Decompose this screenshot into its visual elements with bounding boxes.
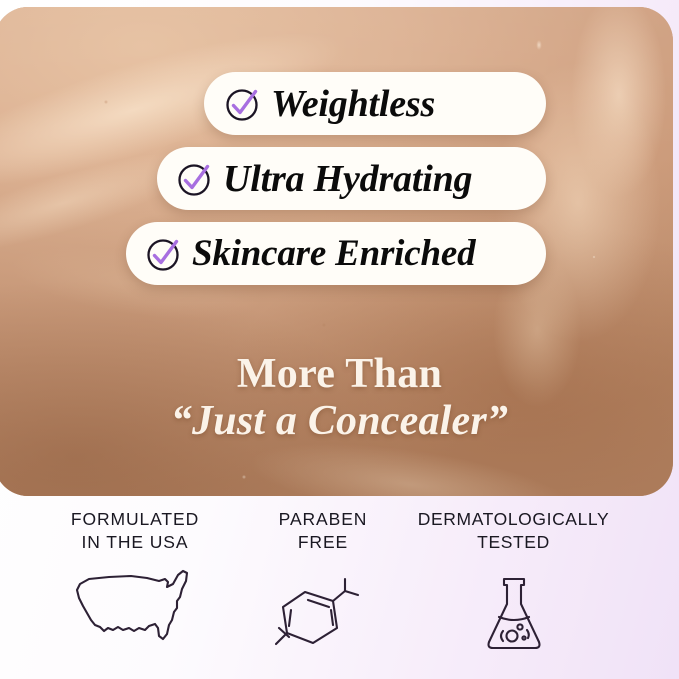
trust-badge-label: FORMULATED IN THE USA [71,508,199,554]
trust-badge-paraben-free: PARABEN FREE [248,508,398,658]
check-circle-icon [223,84,263,124]
product-infographic: Weightless Ultra Hydrating Skincare Enri… [0,0,679,679]
trust-badge-label: DERMATOLOGICALLY TESTED [418,508,609,554]
trust-badge-row: FORMULATED IN THE USA PARABEN FREE DERMA… [0,508,679,679]
benzene-molecule-icon [275,574,371,658]
feature-pill-ultra-hydrating: Ultra Hydrating [157,147,546,210]
check-circle-icon [144,234,184,274]
usa-map-icon [73,568,197,642]
feature-pill-label: Ultra Hydrating [223,160,472,198]
headline-line-2: “Just a Concealer” [0,396,679,446]
trust-badge-dermatologically-tested: DERMATOLOGICALLY TESTED [398,508,679,654]
feature-pill-skincare-enriched: Skincare Enriched [126,222,546,285]
feature-pill-label: Weightless [271,85,435,123]
feature-pill-label: Skincare Enriched [192,235,475,272]
feature-pill-weightless: Weightless [204,72,546,135]
hero-headline: More Than “Just a Concealer” [0,352,679,446]
trust-badge-formulated-in-usa: FORMULATED IN THE USA [0,508,248,642]
headline-line-1: More Than [0,352,679,396]
check-circle-icon [175,159,215,199]
trust-badge-label: PARABEN FREE [279,508,368,554]
erlenmeyer-flask-icon [483,574,545,654]
feature-pill-list: Weightless Ultra Hydrating Skincare Enri… [0,72,679,297]
